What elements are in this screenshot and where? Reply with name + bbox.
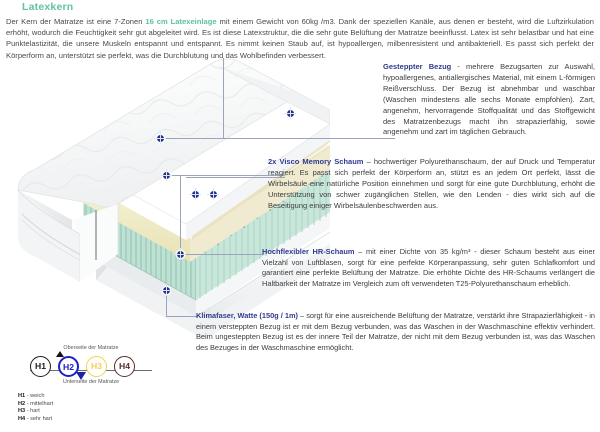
firmness-legend-row: H1 - weich — [18, 393, 188, 401]
marker-node-hr[interactable] — [177, 251, 184, 258]
leader-vline-hr — [180, 175, 181, 255]
firmness-legend-desc: - mittelhart — [25, 401, 53, 407]
leader-line-visco — [165, 175, 285, 176]
callout-body: - mehrere Bezugsarten zur Auswahl, hypoa… — [383, 62, 595, 136]
intro-paragraph: Der Kern der Matratze ist eine 7-Zonen 1… — [6, 16, 594, 61]
arrow-down-icon — [76, 372, 86, 380]
marker-node-watte[interactable] — [163, 287, 170, 294]
callout-heading: Gesteppter Bezug — [383, 62, 451, 71]
leader-line-hr — [180, 254, 264, 255]
callout-heading: Hochflexibler HR-Schaum — [262, 247, 354, 256]
callout-klimafaser-watte: Klimafaser, Watte (150g / 1m) – sorgt fü… — [196, 311, 595, 354]
firmness-legend-row: H3 - hart — [18, 408, 188, 416]
firmness-grade-row: H1H2H3H4 — [18, 356, 158, 378]
firmness-legend-desc: - sehr hart — [25, 416, 52, 422]
marker-node-visco-a[interactable] — [163, 172, 170, 179]
intro-highlight: 16 cm Latexeinlage — [145, 17, 216, 26]
firmness-scale: Oberseite der Matratze H1H2H3H4 Untersei… — [18, 345, 188, 423]
mattress-info-page: Latexkern Der Kern der Matratze ist eine… — [0, 0, 600, 432]
callout-hochflexibler-hr-schaum: Hochflexibler HR-Schaum – mit einer Dich… — [262, 247, 595, 290]
firmness-legend-desc: - weich — [25, 393, 44, 399]
firmness-top-label: Oberseite der Matratze — [26, 345, 156, 351]
leader-vline-bezug — [223, 58, 224, 139]
firmness-legend-desc: - hart — [25, 408, 40, 414]
callout-gesteppter-bezug: Gesteppter Bezug - mehrere Bezugsarten z… — [383, 62, 595, 138]
firmness-grade-h2[interactable]: H2 — [58, 356, 79, 377]
firmness-legend-row: H2 - mittelhart — [18, 401, 188, 409]
callout-heading: Klimafaser, Watte (150g / 1m) — [196, 311, 298, 320]
leader-line-bezug — [160, 138, 395, 139]
firmness-grade-h4[interactable]: H4 — [114, 356, 135, 377]
callout-visco-memory-schaum: 2x Visco Memory Schaum – hochwertiger Po… — [268, 157, 595, 212]
firmness-bottom-label: Unterseite der Matratze — [26, 379, 156, 385]
firmness-legend: H1 - weichH2 - mittelhartH3 - hartH4 - s… — [18, 393, 188, 423]
marker-node-visco-b[interactable] — [192, 191, 199, 198]
firmness-grade-h3[interactable]: H3 — [86, 356, 107, 377]
callout-heading: 2x Visco Memory Schaum — [268, 157, 363, 166]
firmness-grade-h1[interactable]: H1 — [30, 356, 51, 377]
marker-node-visco-c[interactable] — [210, 191, 217, 198]
marker-node-cover[interactable] — [157, 135, 164, 142]
intro-text-0: Der Kern der Matratze ist eine 7-Zonen — [6, 17, 145, 26]
page-title: Latexkern — [22, 1, 73, 13]
marker-node-cover-2[interactable] — [287, 110, 294, 117]
firmness-legend-row: H4 - sehr hart — [18, 416, 188, 424]
leader-line-watte — [166, 316, 198, 317]
